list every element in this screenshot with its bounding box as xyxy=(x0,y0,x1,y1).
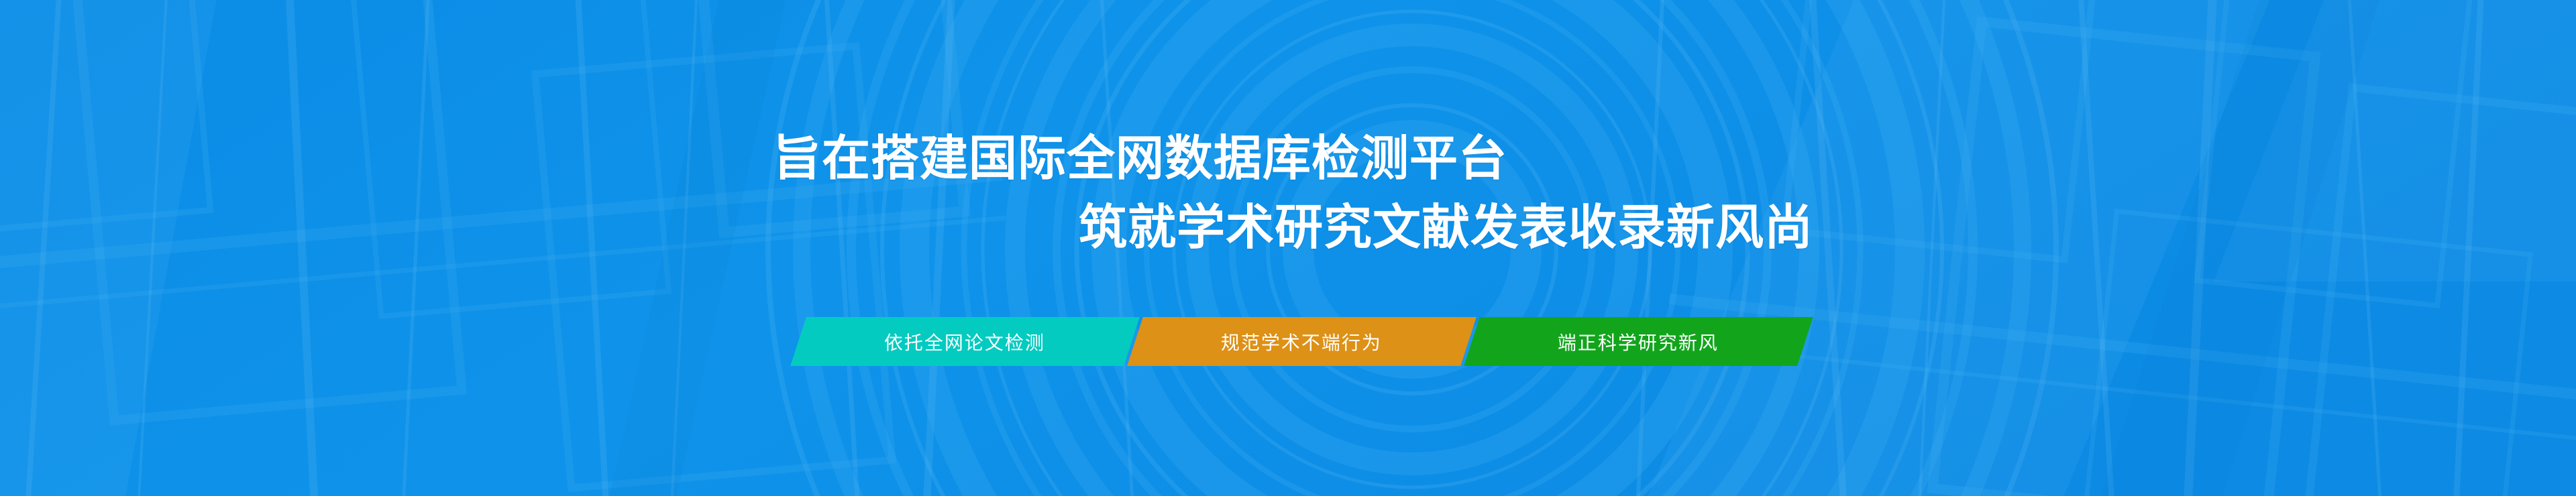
feature-badge-paper-detection[interactable]: 依托全网论文检测 xyxy=(790,317,1140,366)
feature-badge-label: 规范学术不端行为 xyxy=(1221,328,1382,355)
feature-badge-strip: 依托全网论文检测 规范学术不端行为 端正科学研究新风 xyxy=(798,317,1805,366)
feature-badge-research-ethics[interactable]: 端正科学研究新风 xyxy=(1464,317,1813,366)
headline-line-1: 旨在搭建国际全网数据库检测平台 xyxy=(773,134,1507,184)
feature-badge-label: 依托全网论文检测 xyxy=(884,328,1045,355)
promo-banner: 旨在搭建国际全网数据库检测平台 筑就学术研究文献发表收录新风尚 依托全网论文检测… xyxy=(0,0,2576,496)
headline-block: 旨在搭建国际全网数据库检测平台 筑就学术研究文献发表收录新风尚 xyxy=(0,0,2576,496)
headline-line-2: 筑就学术研究文献发表收录新风尚 xyxy=(1079,203,1813,253)
feature-badge-label: 端正科学研究新风 xyxy=(1558,328,1719,355)
feature-badge-academic-misconduct[interactable]: 规范学术不端行为 xyxy=(1127,317,1477,366)
